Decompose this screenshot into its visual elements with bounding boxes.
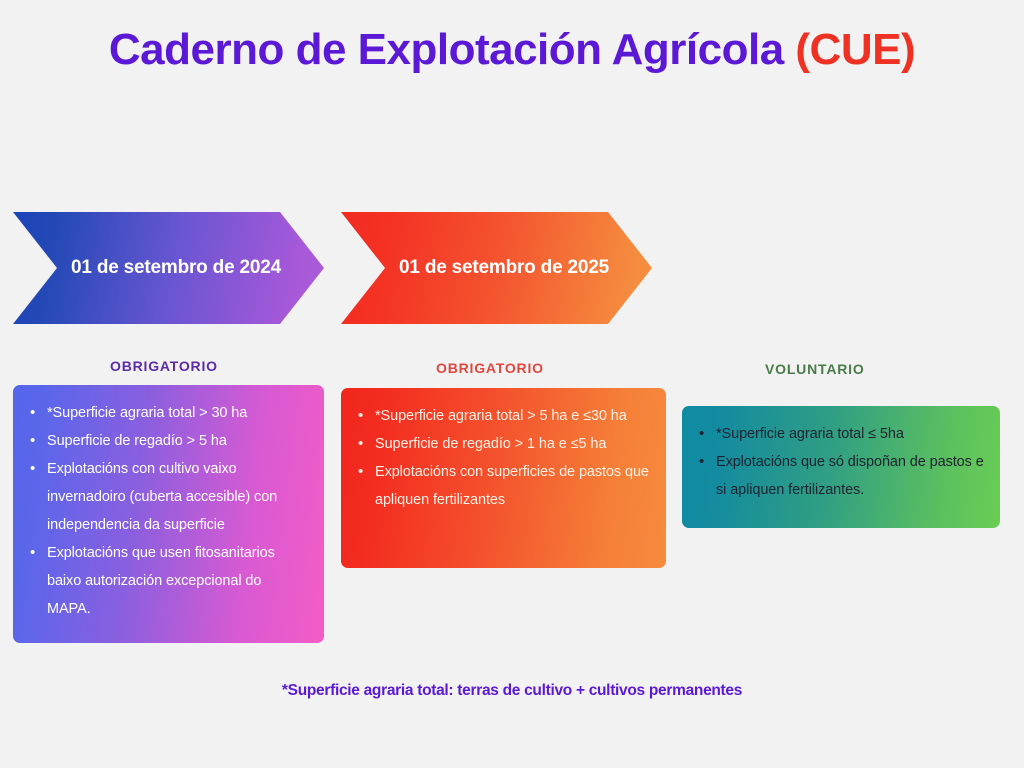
timeline-arrow-label: 01 de setembro de 2024 <box>71 257 281 279</box>
list-item: Superficie de regadío > 5 ha <box>47 427 308 455</box>
criteria-list: *Superficie agraria total > 5 ha e ≤30 h… <box>355 402 650 514</box>
list-item: Explotacións con cultivo vaixo invernado… <box>47 455 308 539</box>
page-title-container: Caderno de Explotación Agrícola (CUE) <box>0 26 1024 74</box>
list-item: *Superficie agraria total ≤ 5ha <box>716 420 984 448</box>
footnote-container: *Superficie agraria total: terras de cul… <box>0 682 1024 700</box>
criteria-card-obrigatorio-1: *Superficie agraria total > 30 ha Superf… <box>13 385 324 643</box>
criteria-card-obrigatorio-2: *Superficie agraria total > 5 ha e ≤30 h… <box>341 388 666 568</box>
timeline-arrow-2024: 01 de setembro de 2024 <box>13 212 324 324</box>
infographic-page: { "page": { "background_color": "#f2f2f2… <box>0 0 1024 768</box>
timeline-arrow-2025: 01 de setembro de 2025 <box>341 212 652 324</box>
list-item: *Superficie agraria total > 30 ha <box>47 399 308 427</box>
column-heading-voluntario: VOLUNTARIO <box>765 361 865 377</box>
page-title-main: Caderno de Explotación Agrícola <box>109 25 796 74</box>
list-item: Superficie de regadío > 1 ha e ≤5 ha <box>375 430 650 458</box>
list-item: *Superficie agraria total > 5 ha e ≤30 h… <box>375 402 650 430</box>
timeline-arrow-label: 01 de setembro de 2025 <box>399 257 609 279</box>
list-item: Explotacións que usen fitosanitarios bai… <box>47 539 308 623</box>
list-item: Explotacións que só dispoñan de pastos e… <box>716 448 984 504</box>
page-title-accent: (CUE) <box>795 25 915 74</box>
column-heading-obrigatorio-2: OBRIGATORIO <box>436 360 544 376</box>
footnote-text: *Superficie agraria total: terras de cul… <box>282 682 742 699</box>
criteria-card-voluntario: *Superficie agraria total ≤ 5ha Explotac… <box>682 406 1000 528</box>
criteria-list: *Superficie agraria total ≤ 5ha Explotac… <box>696 420 984 504</box>
column-heading-obrigatorio-1: OBRIGATORIO <box>110 358 218 374</box>
criteria-list: *Superficie agraria total > 30 ha Superf… <box>27 399 308 623</box>
page-title: Caderno de Explotación Agrícola (CUE) <box>0 26 1024 74</box>
list-item: Explotacións con superficies de pastos q… <box>375 458 650 514</box>
